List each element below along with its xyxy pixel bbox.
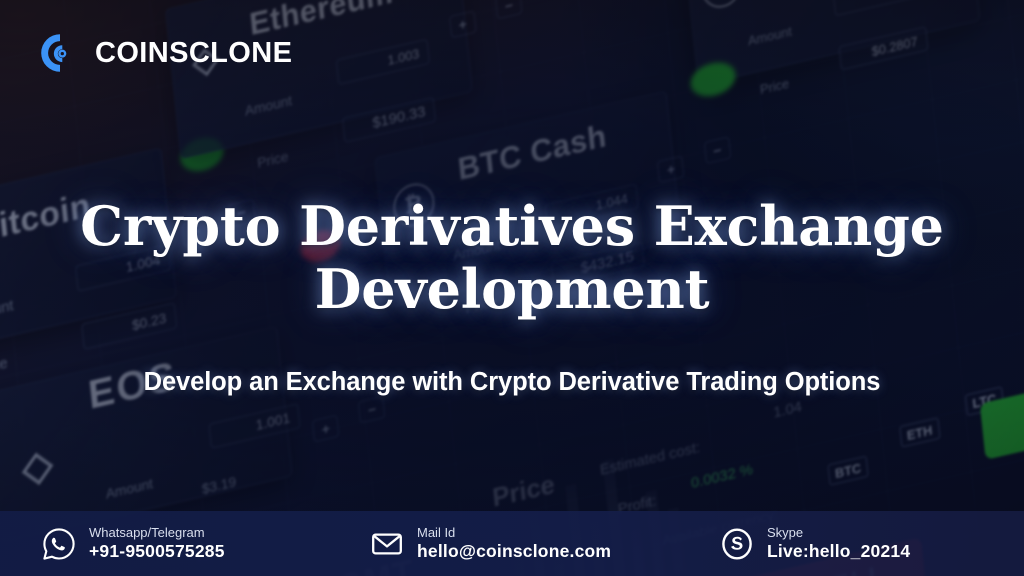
contact-value-whatsapp[interactable]: +91-9500575285	[89, 541, 225, 562]
whatsapp-icon	[42, 527, 76, 561]
brand-logo[interactable]: COINSCLONE	[38, 31, 292, 75]
hero-banner: ₿ Bitcoin Amount 1.004 Price $0.23 + − ◇…	[0, 0, 1024, 576]
contact-item-whatsapp[interactable]: Whatsapp/Telegram +91-9500575285	[0, 525, 346, 562]
coinsclone-circle-logo-icon	[38, 31, 82, 75]
contact-item-skype[interactable]: Skype Live:hello_20214	[674, 525, 1024, 562]
brand-name: COINSCLONE	[95, 39, 292, 68]
envelope-icon	[370, 527, 404, 561]
hero-subtitle: Develop an Exchange with Crypto Derivati…	[0, 368, 1024, 397]
hero-title-block: Crypto Derivatives Exchange Development	[0, 195, 1024, 321]
contact-label-skype: Skype	[767, 525, 910, 540]
contact-label-mail: Mail Id	[417, 525, 611, 540]
hero-title-line-1: Crypto Derivatives Exchange	[70, 195, 954, 258]
contact-label-whatsapp: Whatsapp/Telegram	[89, 525, 225, 540]
contact-value-skype[interactable]: Live:hello_20214	[767, 541, 910, 562]
skype-icon	[720, 527, 754, 561]
contact-value-mail[interactable]: hello@coinsclone.com	[417, 541, 611, 562]
contact-item-mail[interactable]: Mail Id hello@coinsclone.com	[346, 525, 674, 562]
hero-title-line-2: Development	[70, 258, 954, 321]
contact-bar: Whatsapp/Telegram +91-9500575285 Mail Id…	[0, 511, 1024, 576]
